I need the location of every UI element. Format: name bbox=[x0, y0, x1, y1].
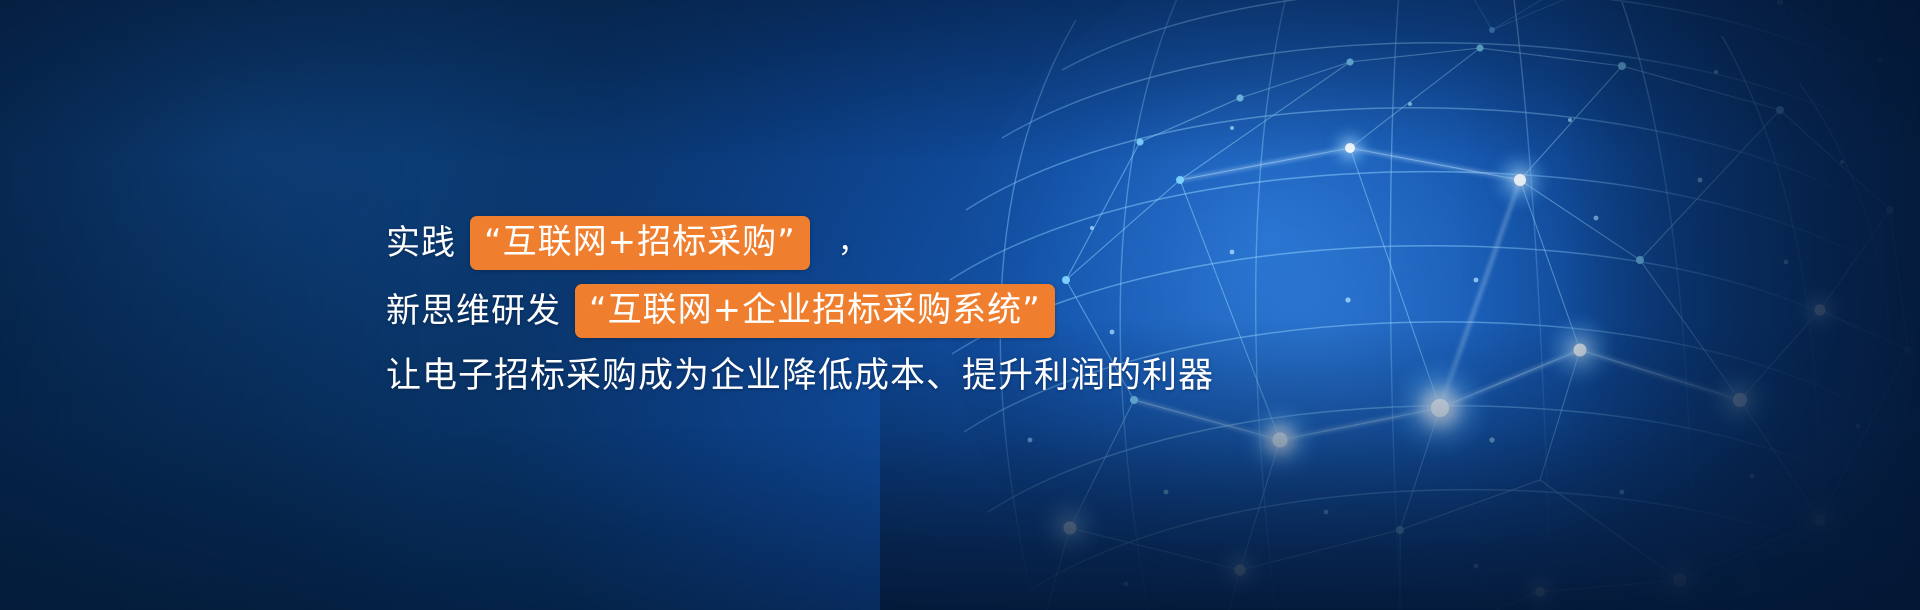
headline-line2-highlight: “互联网+企业招标采购系统” bbox=[575, 284, 1055, 338]
headline-line1-highlight: “互联网+招标采购” bbox=[470, 216, 810, 270]
headline-line2-prefix: 新思维研发 bbox=[386, 288, 561, 334]
headline-line-1: 实践 “互联网+招标采购” ， bbox=[386, 216, 1446, 270]
headline-line-2: 新思维研发 “互联网+企业招标采购系统” bbox=[386, 284, 1446, 338]
headline-line-3: 让电子招标采购成为企业降低成本、提升利润的利器 bbox=[386, 352, 1446, 400]
headline-line1-prefix: 实践 bbox=[386, 220, 456, 266]
headline-line3-text: 让电子招标采购成为企业降低成本、提升利润的利器 bbox=[386, 352, 1214, 400]
headline-line1-suffix: ， bbox=[838, 220, 868, 266]
promo-banner: 实践 “互联网+招标采购” ， 新思维研发 “互联网+企业招标采购系统” 让电子… bbox=[0, 0, 1920, 610]
headline-block: 实践 “互联网+招标采购” ， 新思维研发 “互联网+企业招标采购系统” 让电子… bbox=[386, 216, 1446, 400]
